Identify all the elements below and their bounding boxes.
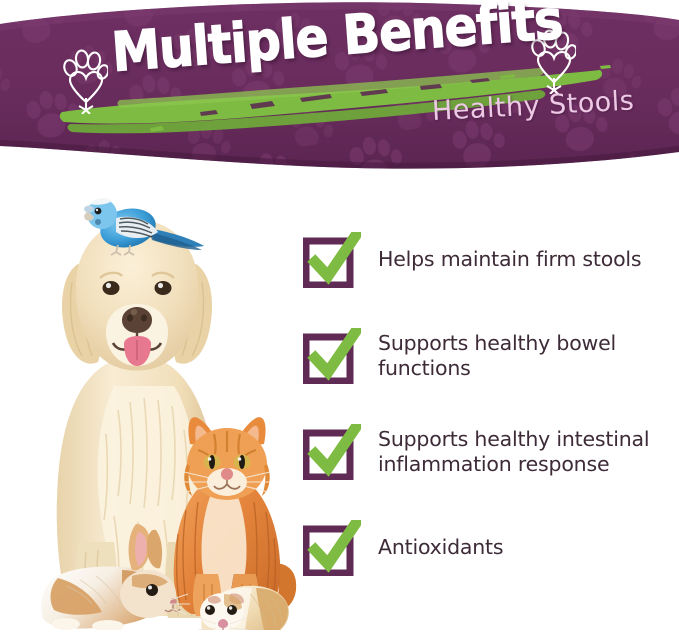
checkbox-checked-icon[interactable] (303, 424, 361, 480)
header-banner: Multiple Benefits Healthy Stools (0, 0, 679, 178)
checkbox-checked-icon[interactable] (303, 520, 361, 576)
benefit-item[interactable]: Supports healthy bowel functions (303, 328, 679, 424)
banner-title: Multiple Benefits (110, 0, 564, 80)
benefit-label: Antioxidants (378, 535, 503, 560)
checkbox-checked-icon[interactable] (303, 328, 361, 384)
benefit-label: Supports healthy intestinal inflammation… (378, 427, 678, 477)
benefit-item[interactable]: Helps maintain firm stools (303, 232, 679, 328)
orange-tabby-cat (174, 417, 297, 616)
pet-group-photo (18, 186, 308, 630)
benefit-item[interactable]: Antioxidants (303, 520, 679, 600)
checkbox-checked-icon[interactable] (303, 232, 361, 288)
infographic-page: Multiple Benefits Healthy Stools (0, 0, 679, 630)
benefit-label: Supports healthy bowel functions (378, 331, 648, 381)
banner-subtitle: Healthy Stools (431, 85, 635, 127)
benefits-list: Helps maintain firm stools Supports heal… (303, 232, 679, 600)
benefit-label: Helps maintain firm stools (378, 247, 641, 272)
benefit-item[interactable]: Supports healthy intestinal inflammation… (303, 424, 679, 520)
heart-paw-icon (62, 48, 108, 119)
